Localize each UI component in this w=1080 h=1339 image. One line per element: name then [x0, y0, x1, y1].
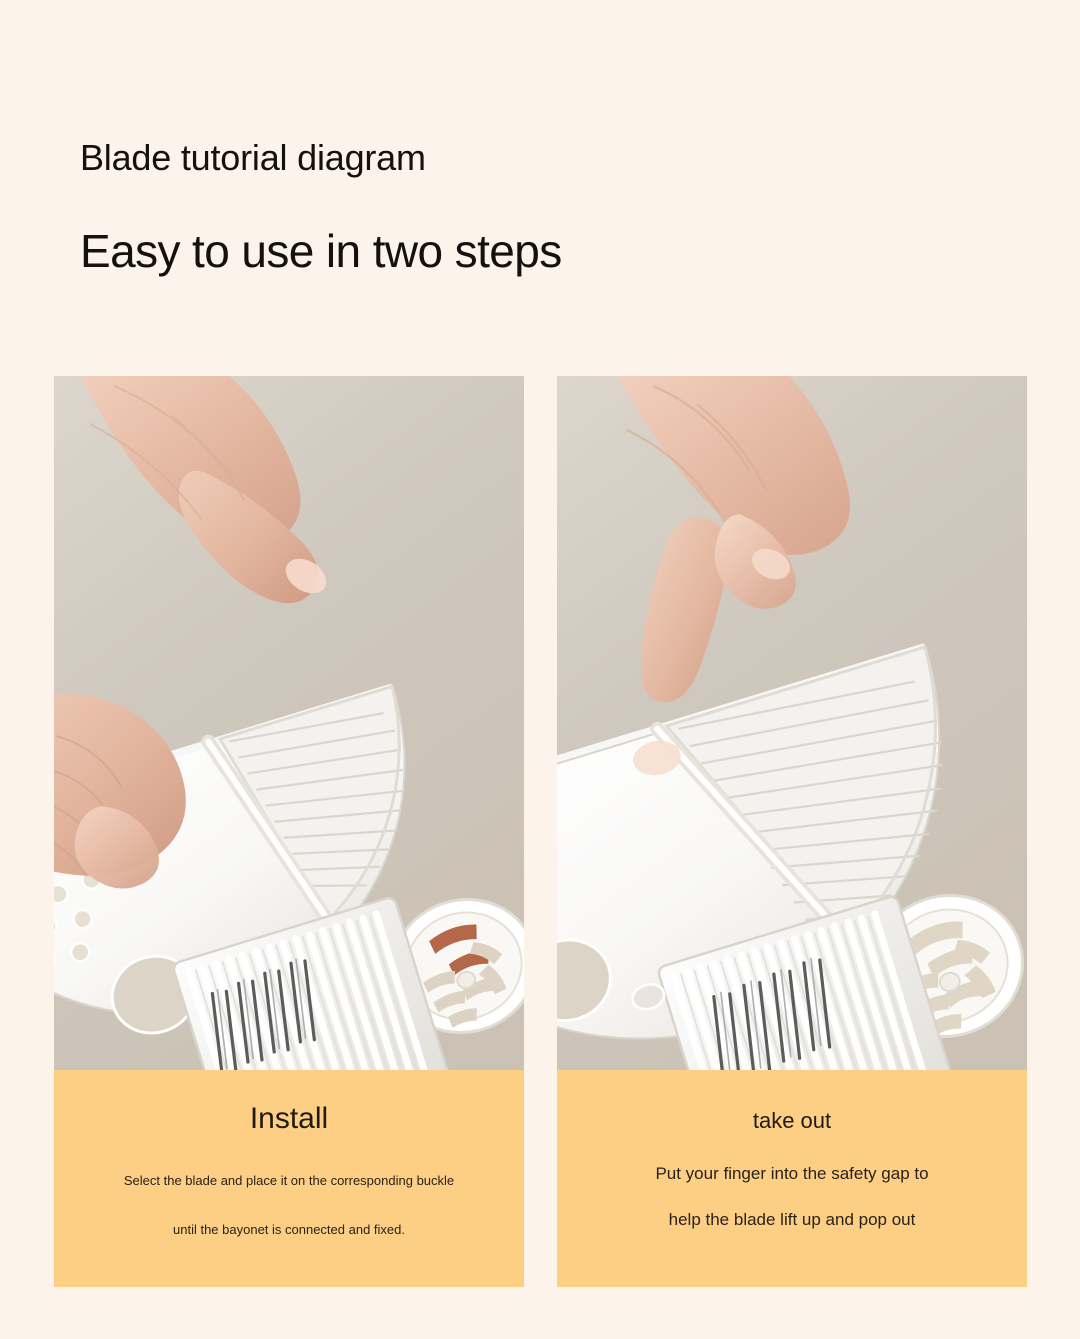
steps-container: Install Select the blade and place it on… — [54, 376, 1027, 1287]
step-desc-line-2-install: until the bayonet is connected and fixed… — [173, 1222, 405, 1237]
step-title-take-out: take out — [753, 1108, 831, 1134]
step-photo-install — [54, 376, 524, 1070]
step-card-install: Install Select the blade and place it on… — [54, 376, 524, 1287]
step-desc-line-1-take-out: Put your finger into the safety gap to — [655, 1164, 928, 1184]
step-desc-line-2-take-out: help the blade lift up and pop out — [669, 1210, 916, 1230]
step-title-install: Install — [250, 1102, 328, 1136]
page-title: Easy to use in two steps — [80, 228, 980, 274]
step-caption-install: Install Select the blade and place it on… — [54, 1070, 524, 1287]
page-subtitle: Blade tutorial diagram — [80, 140, 980, 176]
step-photo-take-out — [557, 376, 1027, 1070]
step-card-take-out: take out Put your finger into the safety… — [557, 376, 1027, 1287]
step-caption-take-out: take out Put your finger into the safety… — [557, 1070, 1027, 1287]
step-desc-line-1-install: Select the blade and place it on the cor… — [124, 1173, 454, 1188]
headings-block: Blade tutorial diagram Easy to use in tw… — [80, 140, 980, 274]
